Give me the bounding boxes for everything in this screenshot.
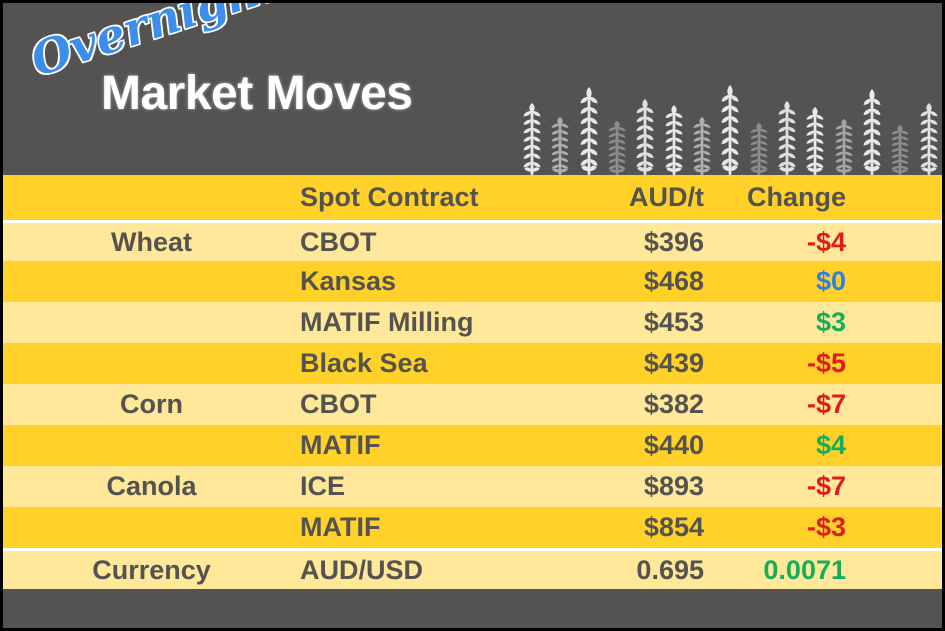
table-row: MATIF$440$4: [3, 425, 942, 466]
table-row: MATIF$854-$3: [3, 507, 942, 548]
cell-price: 0.695: [554, 557, 704, 584]
poster-header: Market Moves Overnight: [3, 3, 942, 175]
cell-spot-contract: MATIF: [300, 432, 554, 459]
table-row: Kansas$468$0: [3, 261, 942, 302]
wheat-stalk-icon: [608, 121, 626, 175]
wheat-stalk-icon: [835, 119, 853, 175]
cell-category: Canola: [3, 473, 300, 500]
cell-change: -$7: [704, 391, 864, 418]
cell-change: $3: [704, 309, 864, 336]
title-block: Market Moves Overnight: [33, 21, 503, 131]
wheat-stalk-icon: [806, 107, 824, 175]
cell-spot-contract: ICE: [300, 473, 554, 500]
wheat-stalk-icon: [891, 125, 909, 175]
cell-price: $396: [554, 229, 704, 256]
wheat-decoration-strip: [523, 81, 938, 175]
wheat-stalk-icon: [636, 99, 654, 175]
cell-category: Currency: [3, 557, 300, 584]
cell-spot-contract: MATIF: [300, 514, 554, 541]
cell-price: $440: [554, 432, 704, 459]
table-row: CanolaICE$893-$7: [3, 466, 942, 507]
wheat-stalk-icon: [750, 123, 768, 175]
cell-change: -$5: [704, 350, 864, 377]
table-row: CornCBOT$382-$7: [3, 384, 942, 425]
cell-price: $468: [554, 268, 704, 295]
wheat-stalk-icon: [693, 117, 711, 175]
cell-change: -$7: [704, 473, 864, 500]
wheat-stalk-icon: [580, 87, 598, 175]
cell-spot-contract: CBOT: [300, 229, 554, 256]
wheat-stalk-icon: [665, 105, 683, 175]
cell-category: Wheat: [3, 229, 300, 256]
wheat-stalk-icon: [778, 101, 796, 175]
header-spot-contract: Spot Contract: [300, 184, 554, 211]
cell-price: $893: [554, 473, 704, 500]
cell-category: Corn: [3, 391, 300, 418]
table-row: Black Sea$439-$5: [3, 343, 942, 384]
cell-price: $382: [554, 391, 704, 418]
page-title: Market Moves: [101, 66, 412, 121]
wheat-stalk-icon: [551, 117, 569, 175]
cell-change: $4: [704, 432, 864, 459]
cell-spot-contract: CBOT: [300, 391, 554, 418]
market-moves-poster: Market Moves Overnight Spot Contract AUD…: [0, 0, 945, 631]
cell-spot-contract: Black Sea: [300, 350, 554, 377]
table-body: WheatCBOT$396-$4Kansas$468$0MATIF Millin…: [3, 220, 942, 589]
cell-change: 0.0071: [704, 557, 864, 584]
cell-spot-contract: AUD/USD: [300, 557, 554, 584]
wheat-stalk-icon: [863, 89, 881, 175]
wheat-stalk-icon: [920, 103, 938, 175]
cell-change: $0: [704, 268, 864, 295]
header-price: AUD/t: [554, 184, 704, 211]
cell-spot-contract: Kansas: [300, 268, 554, 295]
cell-price: $854: [554, 514, 704, 541]
cell-price: $439: [554, 350, 704, 377]
table-row: MATIF Milling$453$3: [3, 302, 942, 343]
wheat-stalk-icon: [721, 85, 739, 175]
table-row: WheatCBOT$396-$4: [3, 220, 942, 261]
cell-price: $453: [554, 309, 704, 336]
cell-spot-contract: MATIF Milling: [300, 309, 554, 336]
table-row: CurrencyAUD/USD0.6950.0071: [3, 548, 942, 589]
poster-footer: [3, 590, 942, 628]
cell-change: -$4: [704, 229, 864, 256]
cell-change: -$3: [704, 514, 864, 541]
market-table: Spot Contract AUD/t Change WheatCBOT$396…: [3, 175, 942, 589]
table-header-row: Spot Contract AUD/t Change: [3, 175, 942, 220]
header-change: Change: [704, 184, 864, 211]
wheat-stalk-icon: [523, 103, 541, 175]
